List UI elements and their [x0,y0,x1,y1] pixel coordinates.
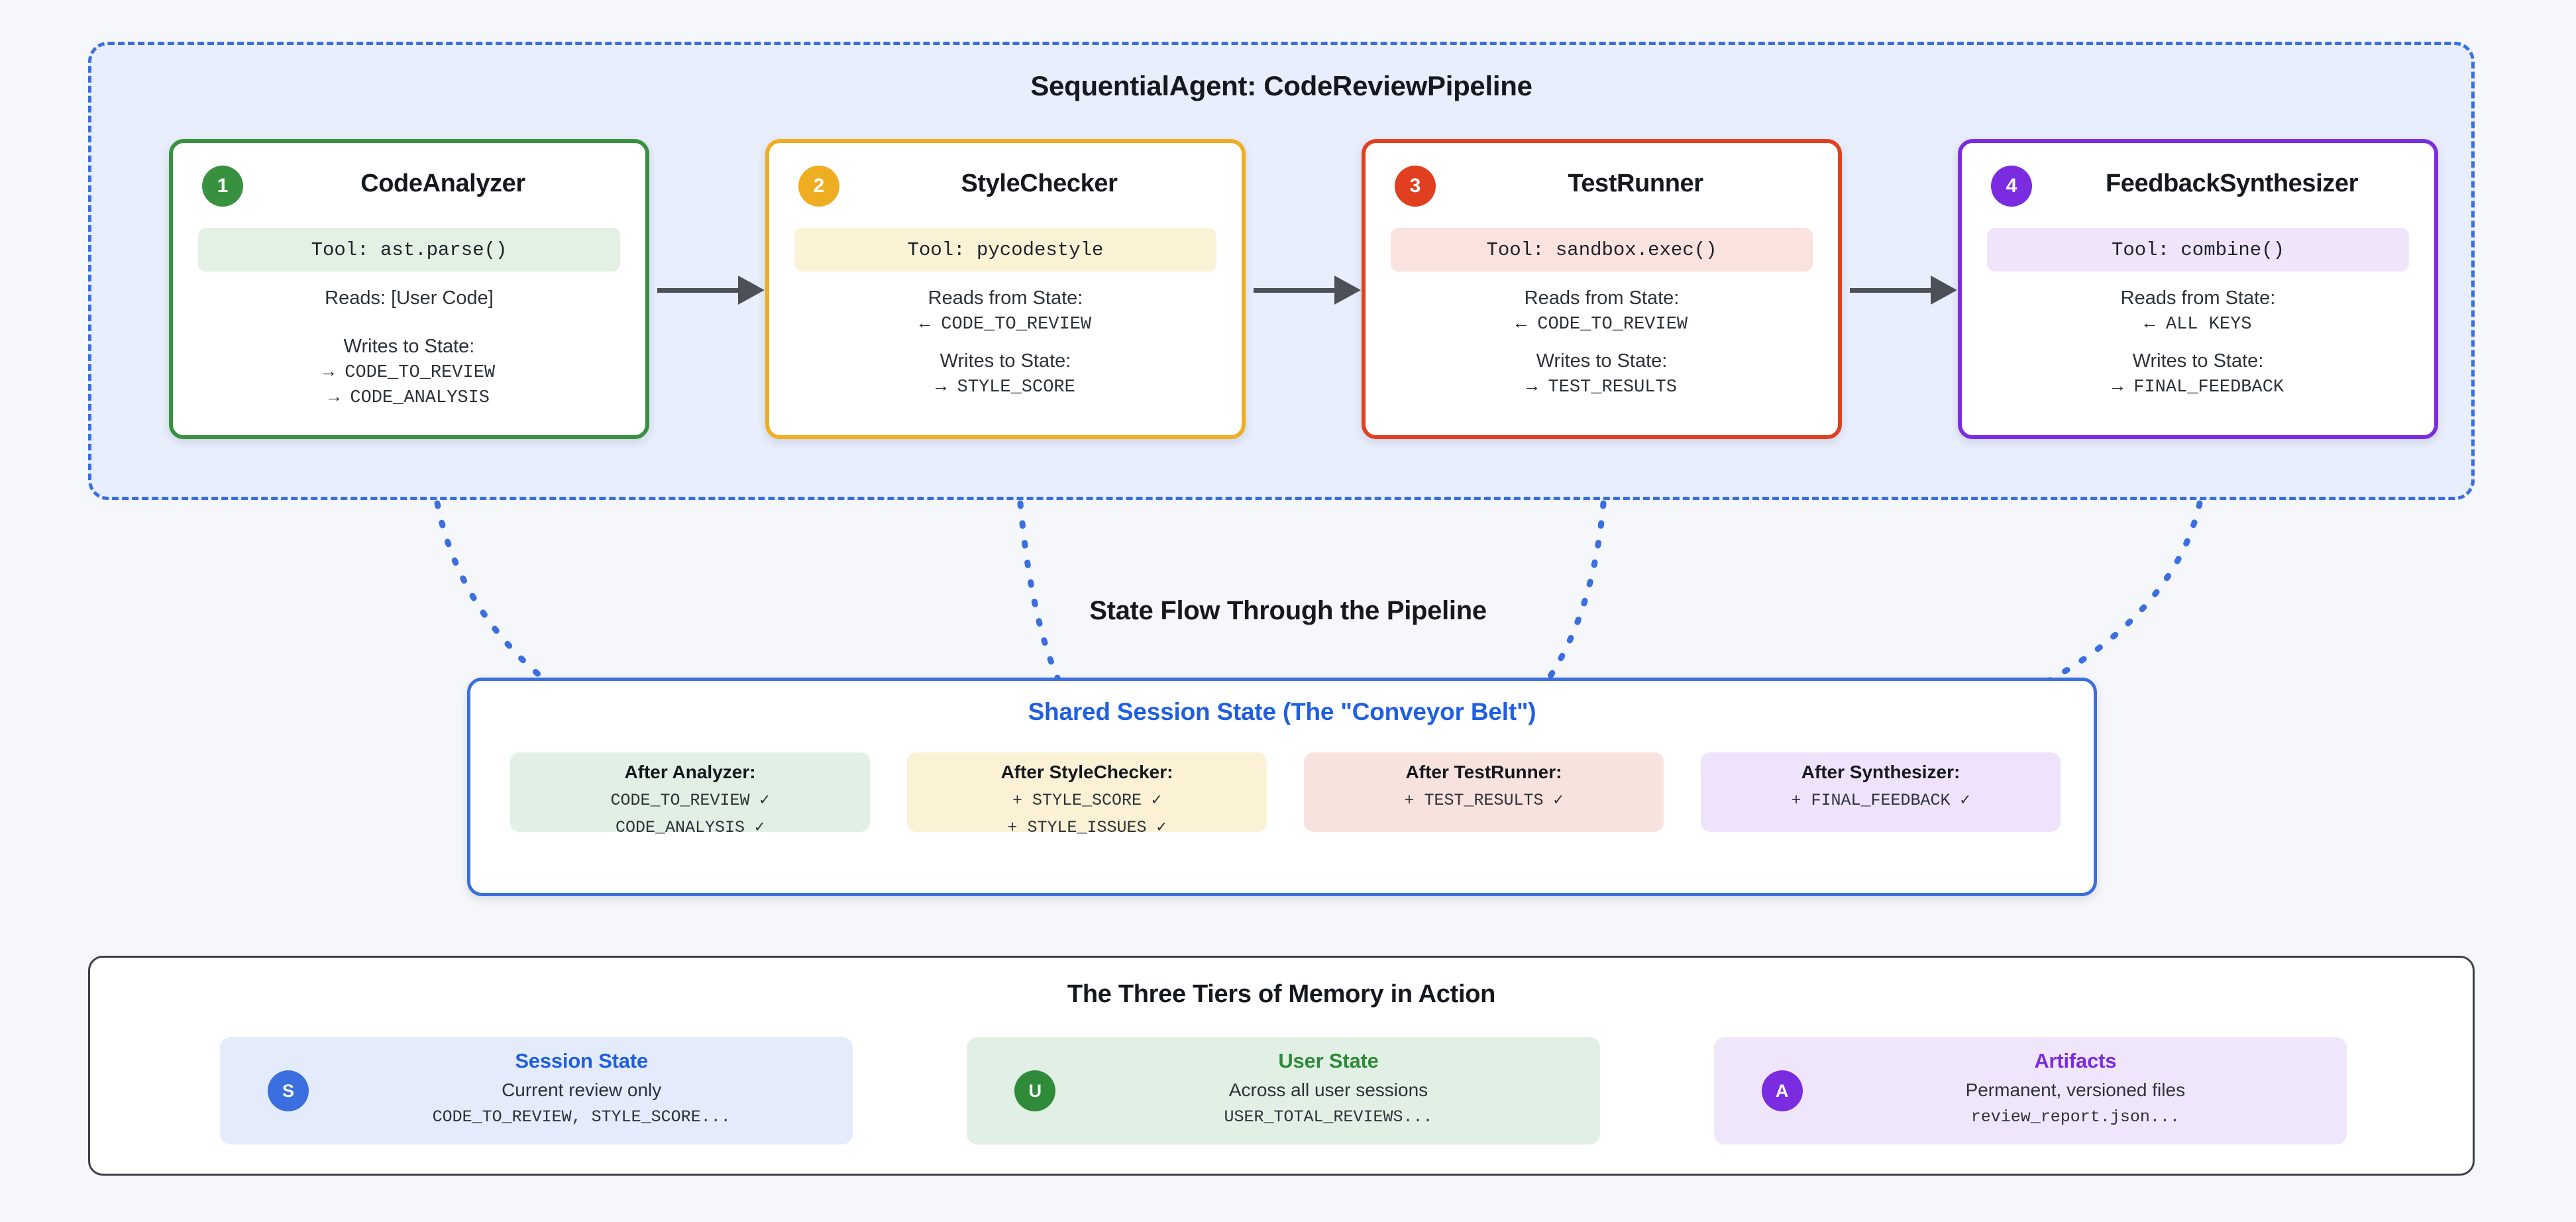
tier-keys: review_report.json... [1813,1107,2337,1127]
tier-name: Artifacts [1813,1049,2337,1073]
session-state-badge-icon: S [268,1070,309,1111]
reads-key: ← ALL KEYS [1962,315,2434,334]
writes-label: Writes to State: [1962,350,2434,372]
agent-name: CodeAnalyzer [252,170,633,198]
agent-card-stylechecker[interactable]: 2 StyleChecker Tool: pycodestyle Reads f… [765,139,1246,439]
agent-card-codeanalyzer[interactable]: 1 CodeAnalyzer Tool: ast.parse() Reads: … [169,139,649,439]
state-flow-section-title: State Flow Through the Pipeline [0,596,2576,626]
tier-keys: CODE_TO_REVIEW, STYLE_SCORE... [319,1107,843,1127]
agent-card-testrunner[interactable]: 3 TestRunner Tool: sandbox.exec() Reads … [1362,139,1842,439]
memory-tier-user-state[interactable]: U User State Across all user sessions US… [967,1037,1599,1145]
tool-chip: Tool: combine() [1987,228,2409,272]
state-chip-after-synthesizer: After Synthesizer: + FINAL_FEEDBACK ✓ [1701,752,2061,832]
state-chip-key: + FINAL_FEEDBACK ✓ [1701,789,2061,810]
reads-label: Reads from State: [769,287,1242,309]
flow-arrow-icon [1254,286,1365,294]
tool-chip: Tool: pycodestyle [794,228,1216,272]
state-chip-after-testrunner: After TestRunner: + TEST_RESULTS ✓ [1304,752,1664,832]
tier-name: User State [1066,1049,1590,1073]
writes-key: → TEST_RESULTS [1366,378,1838,397]
agent-name: TestRunner [1445,170,1826,198]
memory-tier-session-state[interactable]: S Session State Current review only CODE… [220,1037,853,1145]
card-header: 2 StyleChecker [769,143,1242,228]
memory-tiers-title: The Three Tiers of Memory in Action [90,980,2473,1009]
reads-label: Reads from State: [1366,287,1838,309]
step-badge-3: 3 [1395,166,1436,207]
writes-label: Writes to State: [769,350,1242,372]
tier-body: Session State Current review only CODE_T… [319,1049,843,1127]
state-chip-title: After TestRunner: [1304,762,1664,783]
tier-body: Artifacts Permanent, versioned files rev… [1813,1049,2337,1127]
state-chip-key: CODE_TO_REVIEW ✓ [510,789,870,810]
state-chip-key: + STYLE_ISSUES ✓ [907,817,1267,837]
state-chip-title: After Analyzer: [510,762,870,783]
state-chip-row: After Analyzer: CODE_TO_REVIEW ✓ CODE_AN… [510,752,2061,832]
agent-name: FeedbackSynthesizer [2041,170,2422,198]
state-chip-after-stylechecker: After StyleChecker: + STYLE_SCORE ✓ + ST… [907,752,1267,832]
agent-card-feedbacksynthesizer[interactable]: 4 FeedbackSynthesizer Tool: combine() Re… [1958,139,2438,439]
tier-name: Session State [319,1049,843,1073]
flow-arrow-icon [657,286,769,294]
tool-chip: Tool: ast.parse() [198,228,620,272]
card-header: 1 CodeAnalyzer [173,143,645,228]
card-header: 3 TestRunner [1366,143,1838,228]
tier-description: Across all user sessions [1066,1080,1590,1101]
tier-body: User State Across all user sessions USER… [1066,1049,1590,1127]
writes-key: → STYLE_SCORE [769,378,1242,397]
tool-chip: Tool: sandbox.exec() [1391,228,1813,272]
tier-description: Current review only [319,1080,843,1101]
state-chip-key: + STYLE_SCORE ✓ [907,789,1267,810]
flow-arrow-icon [1850,286,1961,294]
user-state-badge-icon: U [1014,1070,1055,1111]
reads-key: ← CODE_TO_REVIEW [769,315,1242,334]
state-chip-title: After Synthesizer: [1701,762,2061,783]
state-chip-key: + TEST_RESULTS ✓ [1304,789,1664,810]
shared-session-state-box: Shared Session State (The "Conveyor Belt… [467,678,2097,896]
memory-tier-row: S Session State Current review only CODE… [220,1037,2347,1145]
writes-key: → FINAL_FEEDBACK [1962,378,2434,397]
tier-description: Permanent, versioned files [1813,1080,2337,1101]
writes-key: → CODE_ANALYSIS [173,388,645,408]
agent-name: StyleChecker [849,170,1230,198]
state-chip-key: CODE_ANALYSIS ✓ [510,817,870,837]
step-badge-1: 1 [202,166,243,207]
step-badge-4: 4 [1991,166,2032,207]
shared-session-state-title: Shared Session State (The "Conveyor Belt… [470,698,2094,726]
step-badge-2: 2 [798,166,839,207]
reads-label: Reads: [User Code] [173,287,645,309]
state-chip-after-analyzer: After Analyzer: CODE_TO_REVIEW ✓ CODE_AN… [510,752,870,832]
writes-label: Writes to State: [1366,350,1838,372]
artifacts-badge-icon: A [1762,1070,1803,1111]
tier-keys: USER_TOTAL_REVIEWS... [1066,1107,1590,1127]
card-header: 4 FeedbackSynthesizer [1962,143,2434,228]
reads-label: Reads from State: [1962,287,2434,309]
pipeline-title: SequentialAgent: CodeReviewPipeline [91,70,2471,102]
state-chip-title: After StyleChecker: [907,762,1267,783]
writes-key: → CODE_TO_REVIEW [173,363,645,383]
memory-tier-artifacts[interactable]: A Artifacts Permanent, versioned files r… [1714,1037,2347,1145]
reads-key: ← CODE_TO_REVIEW [1366,315,1838,334]
diagram-canvas: SequentialAgent: CodeReviewPipeline 1 Co… [0,0,2576,1222]
writes-label: Writes to State: [173,336,645,358]
memory-tiers-container: The Three Tiers of Memory in Action S Se… [88,956,2475,1176]
